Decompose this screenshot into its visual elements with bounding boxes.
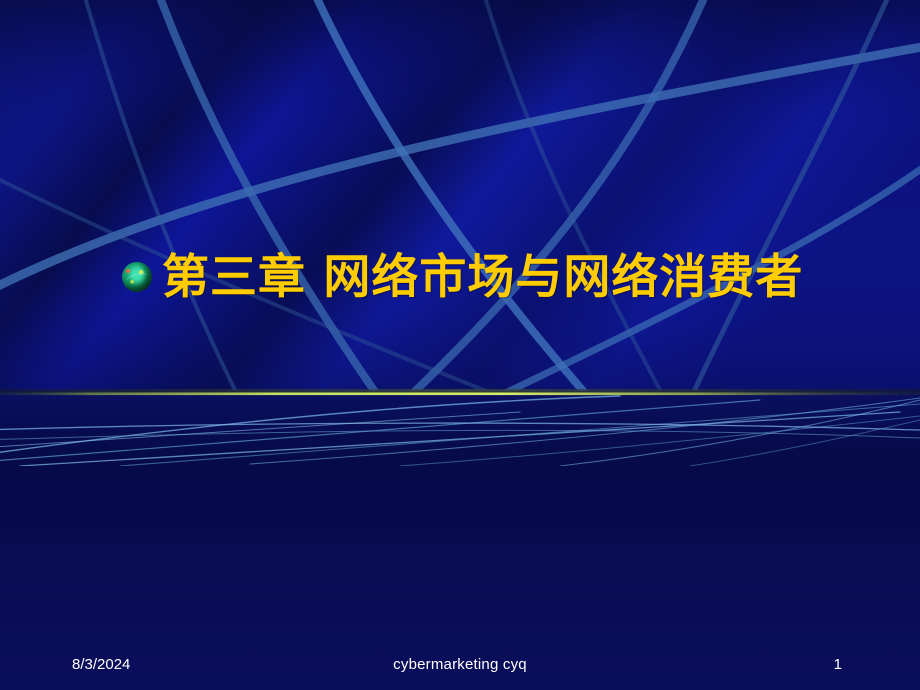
footer-center-text: cybermarketing cyq — [0, 656, 920, 673]
divider-shadow — [0, 389, 920, 393]
footer-page-number: 1 — [834, 656, 842, 673]
globe-icon — [122, 262, 152, 292]
slide-background — [0, 0, 920, 690]
slide-footer: 8/3/2024 cybermarketing cyq 1 — [0, 648, 920, 690]
page-title: 第三章 网络市场与网络消费者 — [162, 254, 803, 301]
slide-title-row: 第三章 网络市场与网络消费者 — [122, 246, 912, 308]
presentation-slide: 第三章 网络市场与网络消费者 8/3/2024 cybermarketing c… — [0, 0, 920, 690]
divider-line — [0, 393, 920, 396]
